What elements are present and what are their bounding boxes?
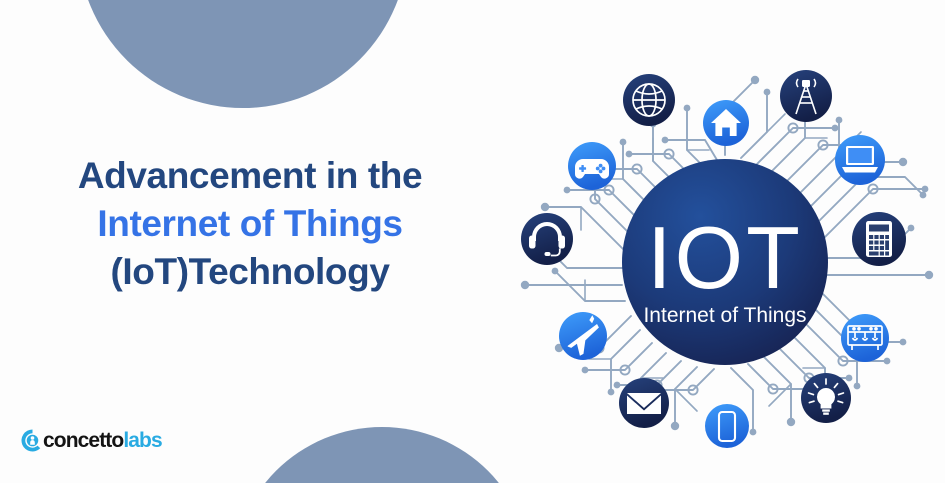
logo-name-labs: labs <box>123 429 161 452</box>
node-globe <box>623 74 675 126</box>
concettolabs-logo[interactable]: concettolabs <box>20 428 165 453</box>
iot-hub-illustration: IOT Internet of Things <box>505 40 945 480</box>
iot-hub-title: IOT <box>647 208 803 307</box>
iot-banner: Advancement in the Internet of Things (I… <box>0 0 945 483</box>
iot-hub-subtitle: Internet of Things <box>643 304 806 327</box>
node-calculator <box>852 212 906 266</box>
node-smartphone <box>705 404 749 448</box>
logo-name-concetto: concetto <box>43 429 123 452</box>
node-gamepad <box>568 142 616 190</box>
envelope-icon <box>627 393 661 414</box>
node-headset <box>521 213 573 265</box>
node-coffee-maker <box>841 314 889 362</box>
decorative-circle-bottom <box>232 427 532 483</box>
iot-hub-circle: IOT Internet of Things <box>622 159 828 365</box>
node-airplane <box>559 312 607 360</box>
headline-line-1: Advancement in the <box>0 152 500 200</box>
laptop-icon <box>842 146 878 173</box>
node-lightbulb <box>801 373 851 423</box>
node-envelope <box>619 378 669 428</box>
concetto-circle-icon <box>20 428 45 453</box>
headset-badge <box>521 213 573 265</box>
node-laptop <box>835 135 885 185</box>
logo-wordmark: concettolabs <box>43 430 162 451</box>
calculator-icon <box>866 221 892 257</box>
node-home <box>703 100 749 146</box>
decorative-circle-top <box>78 0 408 108</box>
tower-badge <box>780 70 832 122</box>
headline-line-3: (IoT)Technology <box>0 248 500 296</box>
node-cell-tower <box>780 70 832 122</box>
page-title: Advancement in the Internet of Things (I… <box>0 152 500 296</box>
headline-line-2: Internet of Things <box>0 200 500 248</box>
